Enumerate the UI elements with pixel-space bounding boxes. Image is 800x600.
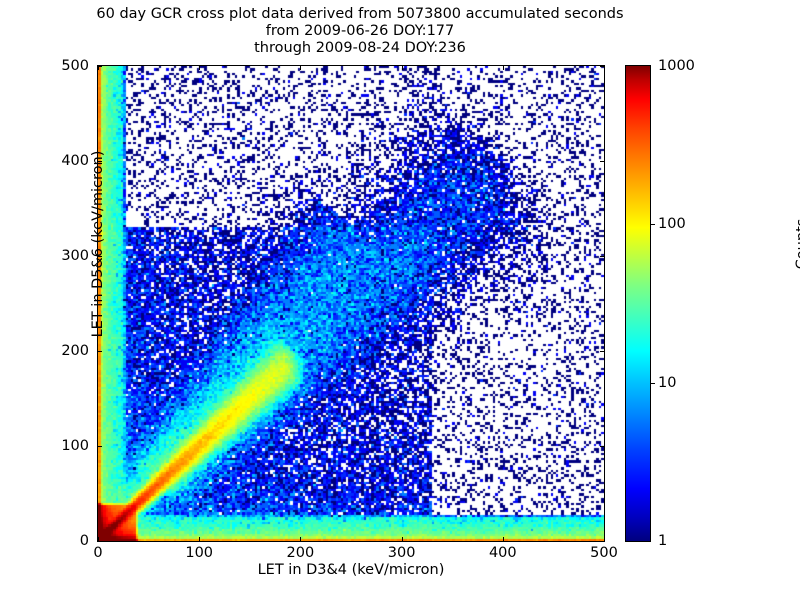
y-tick-right-400: [600, 161, 604, 162]
colorbar: 1101001000: [625, 65, 651, 542]
colorbar-label: Counts: [794, 144, 800, 344]
x-tick-500: [604, 537, 605, 541]
x-ticklabel-100: 100: [185, 545, 213, 561]
scatter-density-canvas: [98, 66, 604, 541]
x-tick-top-100: [199, 66, 200, 70]
x-tick-300: [402, 537, 403, 541]
plot-area: [97, 65, 605, 542]
y-tick-right-100: [600, 446, 604, 447]
x-tick-100: [199, 537, 200, 541]
colorbar-ticklabel-1: 1: [658, 533, 667, 549]
colorbar-gradient: [625, 65, 651, 542]
y-tick-500: [98, 66, 102, 67]
colorbar-ticklabel-100: 100: [658, 216, 686, 232]
y-ticklabel-400: 400: [37, 153, 89, 169]
x-ticklabel-200: 200: [287, 545, 315, 561]
y-tick-right-500: [600, 66, 604, 67]
colorbar-ticklabel-1000: 1000: [658, 58, 695, 74]
title-line-1: 60 day GCR cross plot data derived from …: [0, 6, 720, 23]
colorbar-tick-100: [651, 224, 655, 225]
colorbar-tick-10: [651, 383, 655, 384]
y-ticklabel-100: 100: [37, 438, 89, 454]
x-ticklabel-400: 400: [489, 545, 517, 561]
y-ticklabel-200: 200: [37, 343, 89, 359]
y-tick-right-200: [600, 351, 604, 352]
x-tick-200: [300, 537, 301, 541]
x-tick-top-200: [300, 66, 301, 70]
x-ticklabel-300: 300: [388, 545, 416, 561]
x-ticklabel-0: 0: [93, 545, 102, 561]
chart-title: 60 day GCR cross plot data derived from …: [0, 6, 720, 57]
y-tick-100: [98, 446, 102, 447]
y-ticklabel-0: 0: [37, 533, 89, 549]
y-tick-0: [98, 541, 102, 542]
x-tick-400: [503, 537, 504, 541]
y-tick-right-300: [600, 256, 604, 257]
x-tick-top-300: [402, 66, 403, 70]
y-ticklabel-500: 500: [37, 58, 89, 74]
x-tick-top-400: [503, 66, 504, 70]
colorbar-ticklabel-10: 10: [658, 375, 676, 391]
x-tick-top-500: [604, 66, 605, 70]
y-ticklabel-300: 300: [37, 248, 89, 264]
title-line-3: through 2009-08-24 DOY:236: [0, 40, 720, 57]
y-tick-right-0: [600, 541, 604, 542]
x-axis-label: LET in D3&4 (keV/micron): [97, 562, 605, 578]
x-ticklabel-500: 500: [590, 545, 618, 561]
y-axis-label: LET in D5&6 (keV/micron): [90, 84, 106, 404]
title-line-2: from 2009-06-26 DOY:177: [0, 23, 720, 40]
